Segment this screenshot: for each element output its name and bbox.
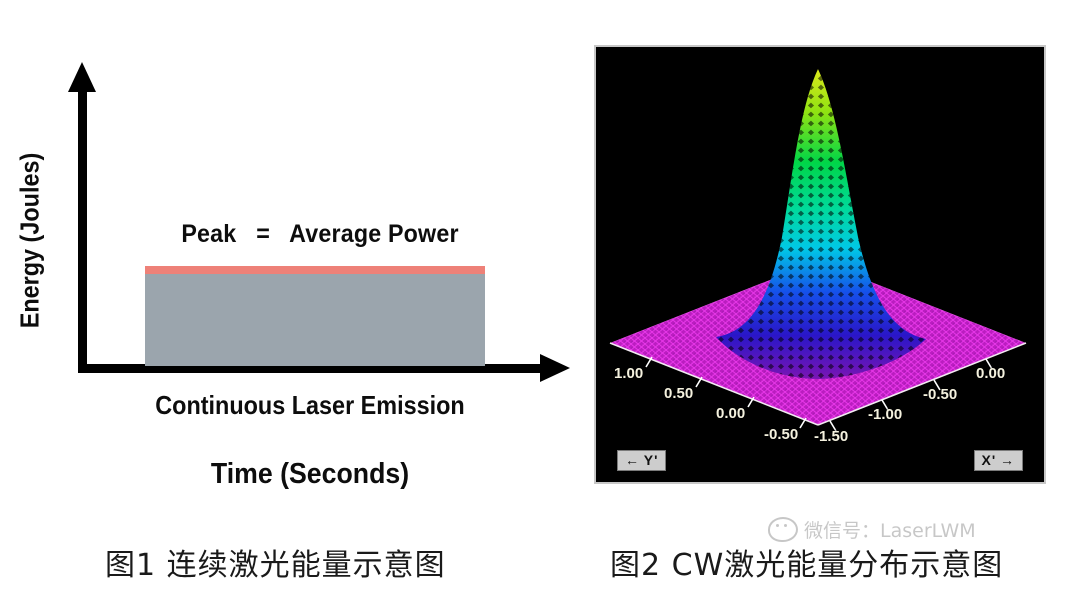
y-tick-3: 0.00 — [716, 405, 745, 422]
x-axis-title: Time (Seconds) — [89, 458, 531, 491]
peak-equals-average-annotation: Peak = Average Power — [171, 220, 469, 249]
wechat-watermark: 微信号：LaserLWM — [768, 516, 976, 543]
x-tick-4: -1.50 — [814, 428, 848, 445]
wechat-icon — [768, 517, 798, 542]
x-tick-1: 0.00 — [976, 365, 1005, 382]
y-axis-title: Energy (Joules) — [15, 137, 46, 344]
y-tick-1: 1.00 — [614, 365, 643, 382]
figure-2-caption: 图2 CW激光能量分布示意图 — [610, 540, 1003, 584]
peak-power-level-indicator — [145, 266, 485, 274]
y-tick-2: 0.50 — [664, 385, 693, 402]
x-tick-3: -1.00 — [868, 406, 902, 423]
cw-beam-profile-3d-plot: 1.00 0.50 0.00 -0.50 0.00 -0.50 -1.00 -1… — [596, 47, 1044, 482]
y-tick-4: -0.50 — [764, 426, 798, 443]
continuous-laser-emission-label: Continuous Laser Emission — [94, 390, 526, 421]
watermark-text: 微信号：LaserLWM — [804, 516, 976, 543]
mesh-surface-svg — [596, 47, 1044, 482]
x-axis-arrowhead — [540, 354, 570, 382]
figure-1-caption: 图1 连续激光能量示意图 — [105, 540, 446, 584]
y-axis-name-badge[interactable]: ← Y' — [617, 450, 666, 471]
cw-energy-schematic: Peak = Average Power Energy (Joules) Con… — [0, 0, 590, 515]
peak-mesh-lattice — [686, 47, 966, 392]
continuous-power-block — [145, 266, 485, 366]
y-axis-line — [78, 88, 87, 372]
x-tick-2: -0.50 — [923, 386, 957, 403]
x-axis-name-badge[interactable]: X' → — [974, 450, 1023, 471]
